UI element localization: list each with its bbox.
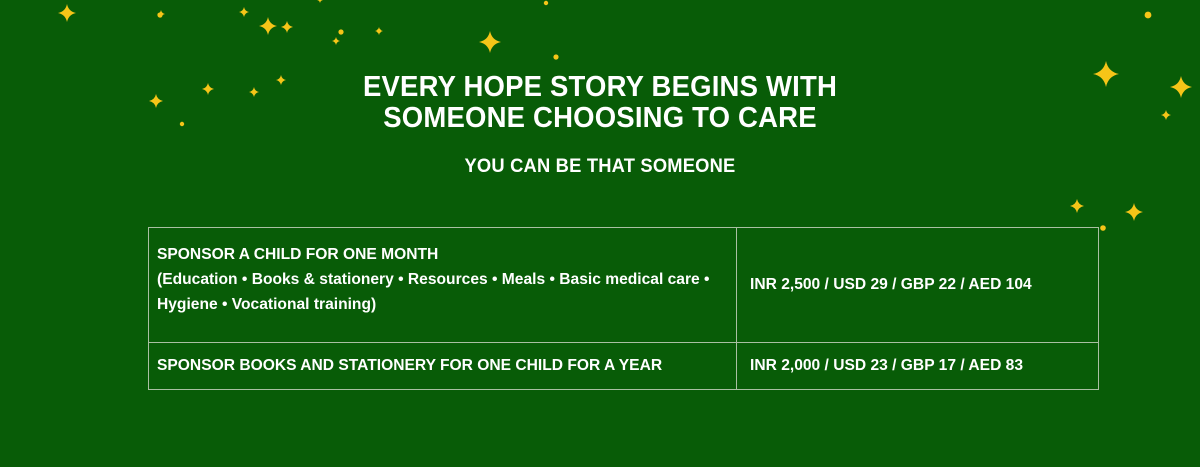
- four-point-star-sparkle-icon: [1070, 199, 1084, 213]
- star-dot-icon: [1145, 12, 1152, 19]
- sponsorship-pricing-table: SPONSOR A CHILD FOR ONE MONTH (Education…: [148, 227, 1099, 390]
- hero-text-block: EVERY HOPE STORY BEGINS WITH SOMEONE CHO…: [0, 72, 1200, 178]
- four-point-star-sparkle-icon: [281, 21, 293, 33]
- page-headline: EVERY HOPE STORY BEGINS WITH SOMEONE CHO…: [21, 72, 1179, 134]
- star-dot-icon: [544, 1, 548, 5]
- four-point-star-sparkle-icon: [58, 4, 76, 22]
- headline-line-1: EVERY HOPE STORY BEGINS WITH: [363, 71, 837, 103]
- four-point-star-sparkle-icon: [1125, 203, 1143, 221]
- four-point-star-sparkle-icon: [317, 0, 323, 3]
- row-description-title: SPONSOR BOOKS AND STATIONERY FOR ONE CHI…: [157, 353, 720, 378]
- headline-line-2: SOMEONE CHOOSING TO CARE: [383, 102, 817, 134]
- row-description-detail: (Education • Books & stationery • Resour…: [157, 267, 720, 317]
- four-point-star-sparkle-icon: [479, 31, 501, 53]
- table-cell-description: SPONSOR BOOKS AND STATIONERY FOR ONE CHI…: [149, 343, 737, 390]
- row-description-title: SPONSOR A CHILD FOR ONE MONTH: [157, 242, 720, 267]
- table-row: SPONSOR A CHILD FOR ONE MONTH (Education…: [149, 228, 1099, 343]
- four-point-star-sparkle-icon: [239, 7, 249, 17]
- star-dot-icon: [157, 12, 162, 17]
- table-cell-description: SPONSOR A CHILD FOR ONE MONTH (Education…: [149, 228, 737, 343]
- star-dot-icon: [338, 29, 343, 34]
- page-subheadline: YOU CAN BE THAT SOMEONE: [21, 134, 1179, 178]
- four-point-star-sparkle-icon: [157, 10, 165, 18]
- four-point-star-sparkle-icon: [332, 37, 340, 45]
- four-point-star-sparkle-icon: [259, 17, 277, 35]
- table-cell-price: INR 2,500 / USD 29 / GBP 22 / AED 104: [737, 228, 1099, 343]
- four-point-star-sparkle-icon: [375, 27, 383, 35]
- star-dot-icon: [553, 54, 558, 59]
- table-cell-price: INR 2,000 / USD 23 / GBP 17 / AED 83: [737, 343, 1099, 390]
- star-dot-icon: [1100, 225, 1106, 231]
- star-dot-icon: [377, 29, 381, 33]
- table-row: SPONSOR BOOKS AND STATIONERY FOR ONE CHI…: [149, 343, 1099, 390]
